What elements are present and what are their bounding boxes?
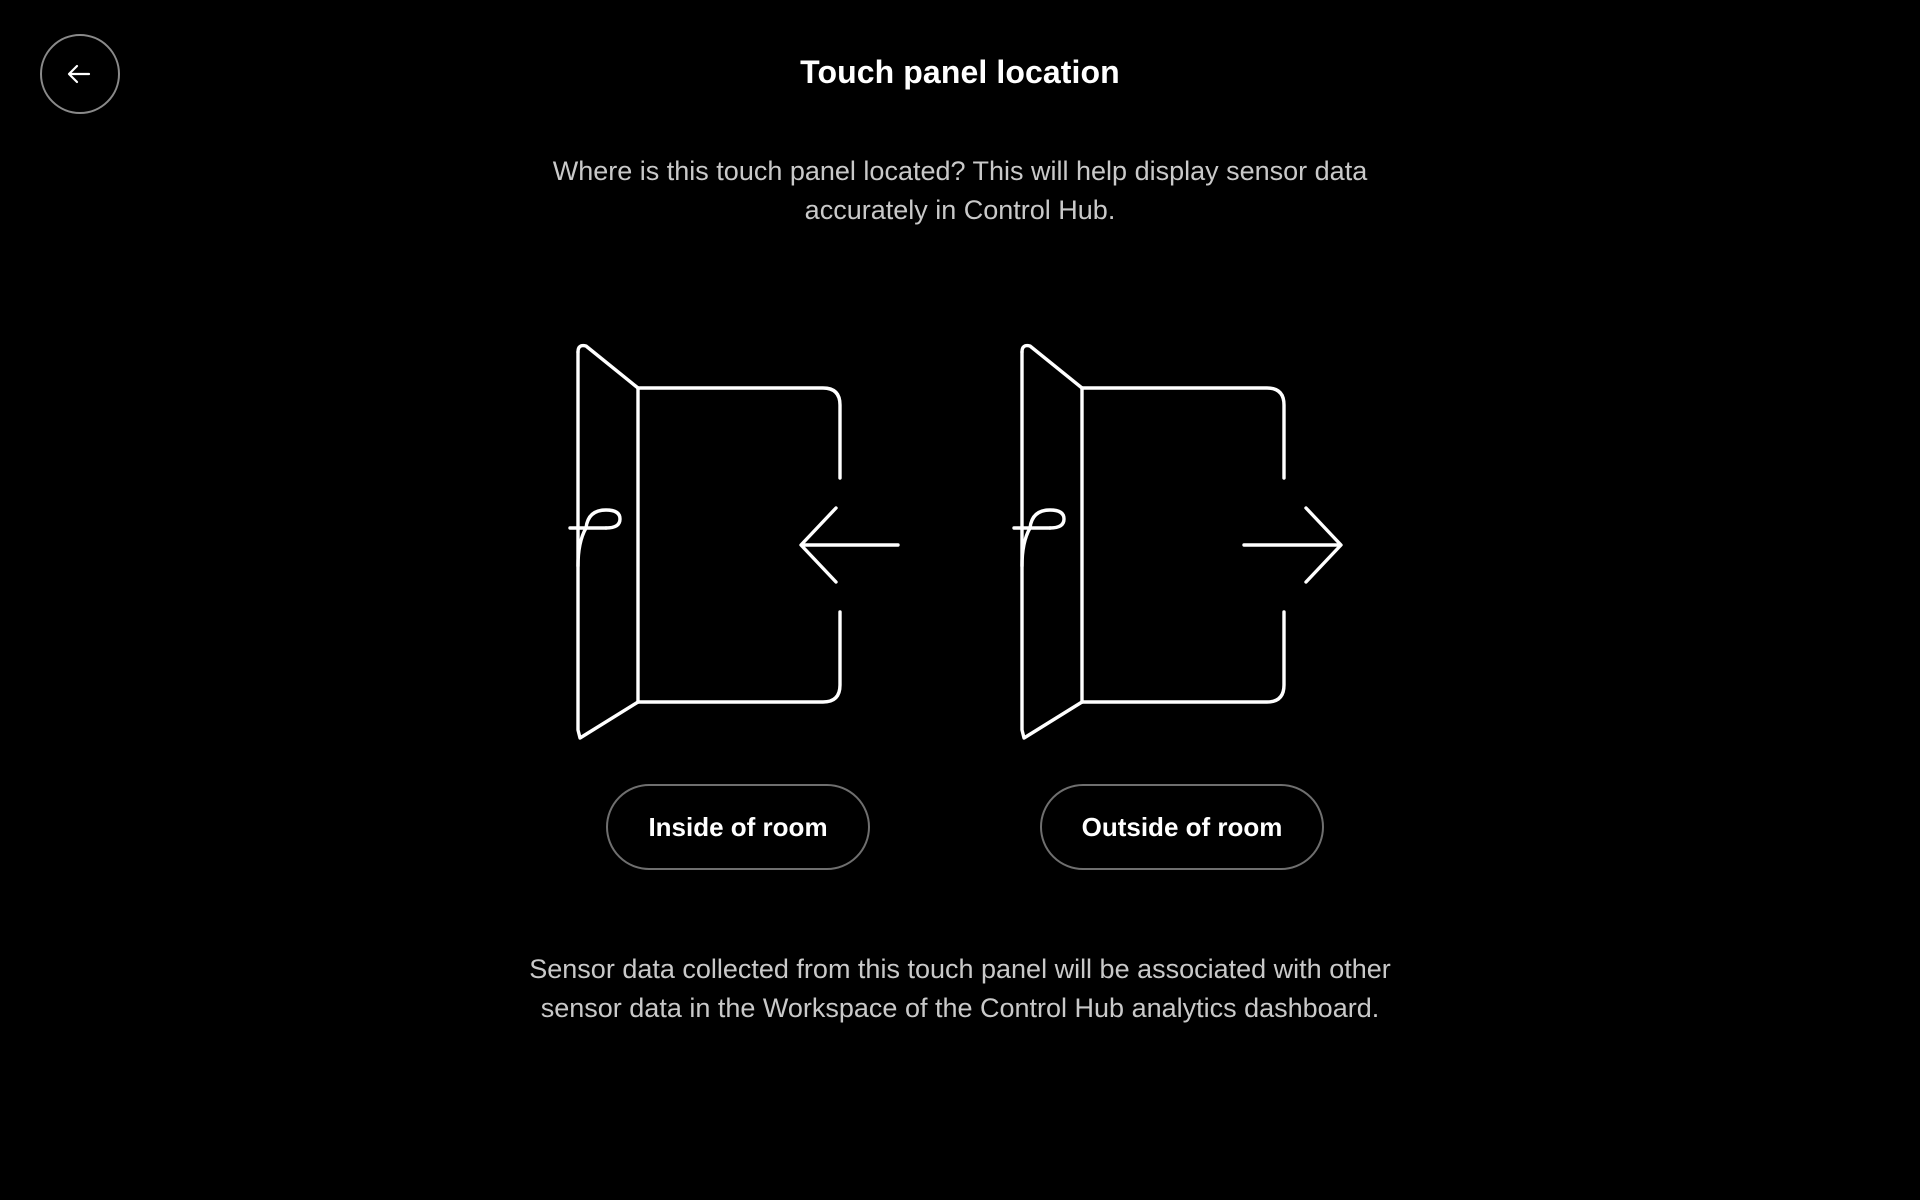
option-outside-of-room: Outside of room <box>1012 330 1352 870</box>
outside-of-room-button[interactable]: Outside of room <box>1040 784 1325 870</box>
location-options: Inside of room <box>568 330 1352 870</box>
page-title: Touch panel location <box>0 53 1920 91</box>
option-inside-of-room: Inside of room <box>568 330 908 870</box>
footer-note: Sensor data collected from this touch pa… <box>510 950 1410 1028</box>
door-arrow-out-icon <box>1012 330 1352 760</box>
inside-of-room-button[interactable]: Inside of room <box>606 784 869 870</box>
door-arrow-in-icon <box>568 330 908 760</box>
page-subtitle: Where is this touch panel located? This … <box>510 152 1410 230</box>
touch-panel-location-screen: Touch panel location Where is this touch… <box>0 0 1920 1200</box>
